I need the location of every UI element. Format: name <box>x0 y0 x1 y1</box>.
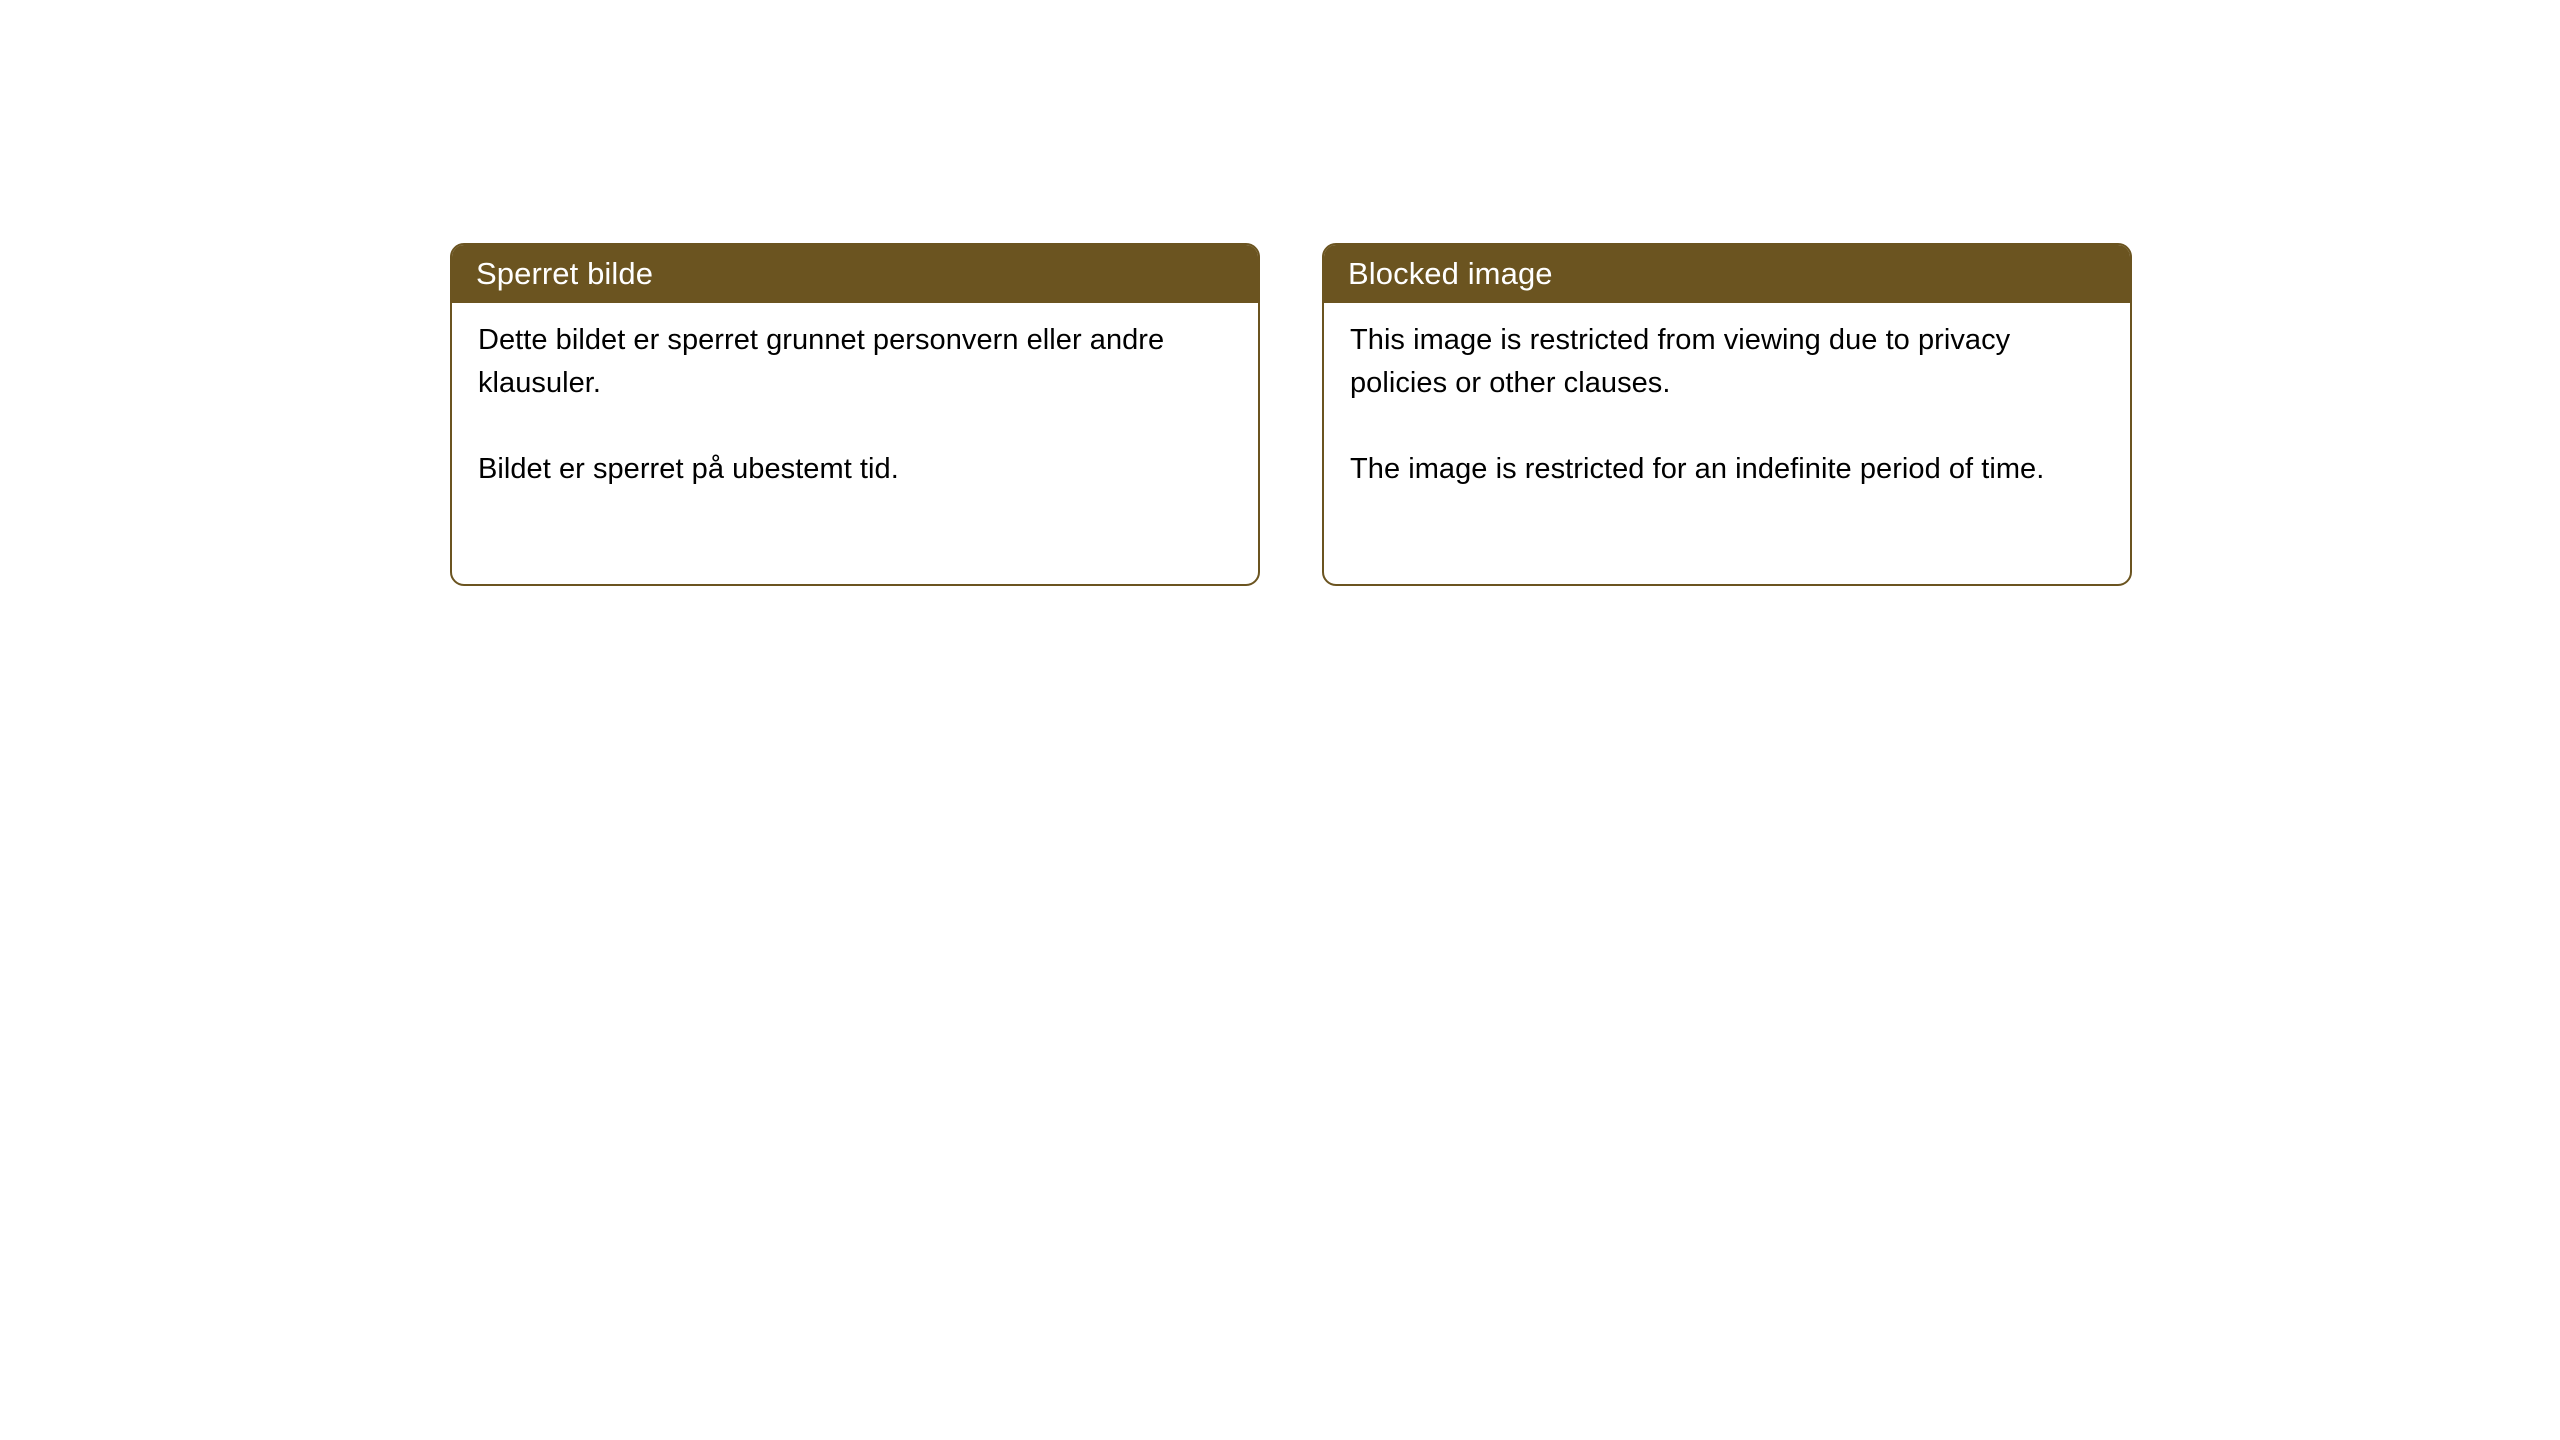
blocked-image-card-norwegian: Sperret bilde Dette bildet er sperret gr… <box>450 243 1260 586</box>
card-header-english: Blocked image <box>1322 243 2132 303</box>
card-title-english: Blocked image <box>1348 258 1553 289</box>
card-header-norwegian: Sperret bilde <box>450 243 1260 303</box>
card-paragraph-english-1: This image is restricted from viewing du… <box>1350 319 2108 405</box>
card-paragraph-norwegian-2: Bildet er sperret på ubestemt tid. <box>478 448 1236 491</box>
card-paragraph-english-2: The image is restricted for an indefinit… <box>1350 448 2108 491</box>
card-body-norwegian: Dette bildet er sperret grunnet personve… <box>452 303 1258 584</box>
card-title-norwegian: Sperret bilde <box>476 258 653 289</box>
blocked-image-card-english: Blocked image This image is restricted f… <box>1322 243 2132 586</box>
blocked-image-notice-cluster: Sperret bilde Dette bildet er sperret gr… <box>450 243 2132 586</box>
card-paragraph-norwegian-1: Dette bildet er sperret grunnet personve… <box>478 319 1236 405</box>
card-body-english: This image is restricted from viewing du… <box>1324 303 2130 584</box>
